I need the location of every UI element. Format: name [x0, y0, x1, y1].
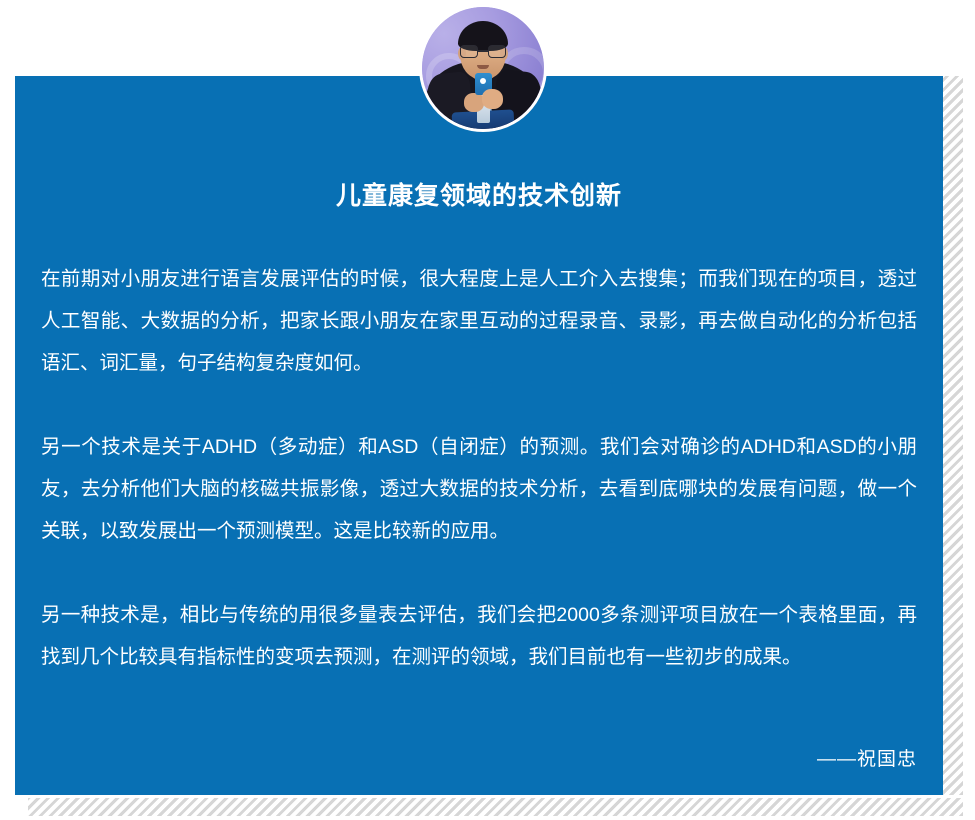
diagonal-hatch-strip-bottom — [28, 798, 963, 816]
speaker-portrait-photo-icon — [422, 7, 544, 129]
card-body: 在前期对小朋友进行语言发展评估的时候，很大程度上是人工介入去搜集；而我们现在的项… — [41, 258, 917, 678]
glasses-lens-right — [488, 45, 506, 58]
quote-card: 儿童康复领域的技术创新 在前期对小朋友进行语言发展评估的时候，很大程度上是人工介… — [15, 76, 943, 795]
hand-left — [464, 93, 484, 112]
glasses-bridge — [478, 50, 488, 52]
quote-card-page: 儿童康复领域的技术创新 在前期对小朋友进行语言发展评估的时候，很大程度上是人工介… — [0, 0, 975, 820]
attribution-signature: ——祝国忠 — [817, 744, 917, 771]
hand-right — [482, 89, 503, 109]
glasses-lens-left — [460, 45, 478, 58]
card-title: 儿童康复领域的技术创新 — [15, 176, 943, 212]
avatar — [419, 4, 547, 132]
paragraph: 另一个技术是关于ADHD（多动症）和ASD（自闭症）的预测。我们会对确诊的ADH… — [41, 426, 917, 552]
microphone-logo-dot — [480, 78, 486, 84]
paragraph: 另一种技术是，相比与传统的用很多量表去评估，我们会把2000多条测评项目放在一个… — [41, 594, 917, 678]
glasses-icon — [459, 45, 507, 58]
diagonal-hatch-strip-right — [943, 76, 963, 795]
paragraph: 在前期对小朋友进行语言发展评估的时候，很大程度上是人工介入去搜集；而我们现在的项… — [41, 258, 917, 384]
